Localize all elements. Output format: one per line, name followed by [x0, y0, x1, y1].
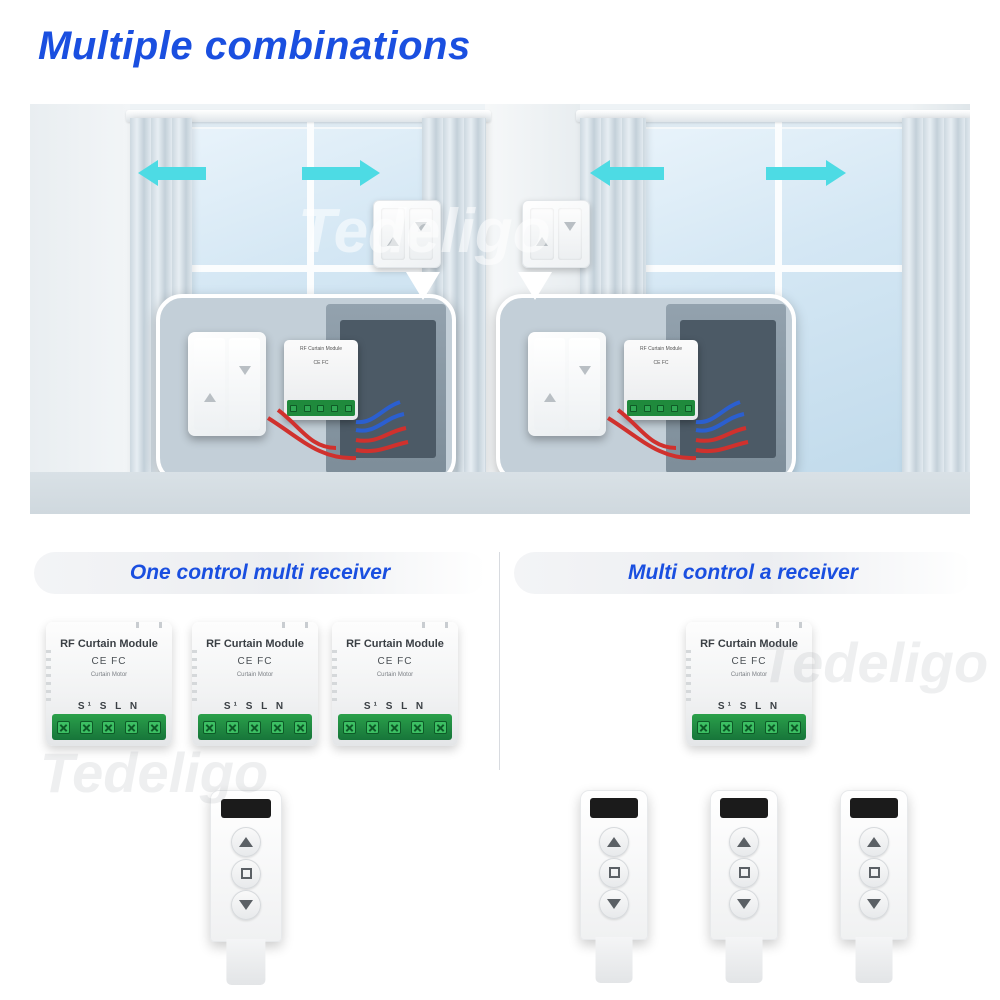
rf-curtain-module: RF Curtain Module CE FC Curtain Motor S¹…	[46, 622, 172, 746]
arrow-right-icon	[766, 160, 846, 186]
rf-remote[interactable]	[210, 790, 282, 942]
switch-button-up[interactable]	[530, 208, 554, 260]
module-terminal-block	[198, 714, 312, 740]
remote-holder	[226, 939, 265, 985]
remote-up-button[interactable]	[859, 827, 889, 857]
rf-curtain-module: RF Curtain Module CE FC Curtain Motor S¹…	[192, 622, 318, 746]
callout-tail	[406, 272, 440, 300]
remote-up-button[interactable]	[231, 827, 261, 857]
module-subtitle: Curtain Motor	[46, 672, 172, 678]
section-heading-label: Multi control a receiver	[628, 561, 858, 585]
callout-right: RF Curtain Module CE FC	[496, 294, 796, 484]
page-title: Multiple combinations	[38, 24, 471, 69]
remote-screen	[590, 798, 638, 817]
module-terminal-labels: S¹ S L N	[332, 701, 458, 712]
remote-stop-button[interactable]	[729, 858, 759, 888]
module-subtitle: Curtain Motor	[332, 672, 458, 678]
remote-screen	[221, 799, 271, 819]
remote-holder	[596, 937, 633, 983]
module-subtitle: Curtain Motor	[686, 672, 812, 678]
switch-button-up[interactable]	[381, 208, 405, 260]
module-certs: CE FC	[686, 656, 812, 667]
rf-curtain-module: RF Curtain Module CE FC Curtain Motor S¹…	[332, 622, 458, 746]
remote-stop-button[interactable]	[859, 858, 889, 888]
module-title: RF Curtain Module	[192, 638, 318, 650]
antenna-icon	[776, 622, 802, 628]
arrow-left-icon	[138, 160, 206, 186]
module-terminal-block	[52, 714, 166, 740]
arrow-right-icon	[302, 160, 380, 186]
module-certs: CE FC	[46, 656, 172, 667]
module-certs: CE FC	[332, 656, 458, 667]
module-terminal-block	[692, 714, 806, 740]
module-title: RF Curtain Module	[332, 638, 458, 650]
remote-stop-button[interactable]	[231, 859, 261, 889]
remote-screen	[720, 798, 768, 817]
room-floor	[30, 472, 970, 514]
remote-down-button[interactable]	[729, 889, 759, 919]
module-terminal-labels: S¹ S L N	[46, 701, 172, 712]
hero-photo: Tedeligo RF Curtain Module CE FC	[30, 104, 970, 514]
wiring-diagram	[160, 298, 456, 484]
antenna-icon	[422, 622, 448, 628]
switch-button-down[interactable]	[409, 208, 433, 260]
remote-holder	[726, 937, 763, 983]
antenna-icon	[136, 622, 162, 628]
remote-holder	[856, 937, 893, 983]
remote-down-button[interactable]	[231, 890, 261, 920]
antenna-icon	[282, 622, 308, 628]
callout-left: RF Curtain Module CE FC	[156, 294, 456, 484]
module-terminal-labels: S¹ S L N	[192, 701, 318, 712]
module-terminal-labels: S¹ S L N	[686, 701, 812, 712]
rf-remote[interactable]	[580, 790, 648, 940]
wiring-diagram	[500, 298, 796, 484]
arrow-left-icon	[590, 160, 664, 186]
module-terminal-block	[338, 714, 452, 740]
remote-down-button[interactable]	[859, 889, 889, 919]
room-wall-left	[30, 104, 130, 514]
curtain-panel	[902, 118, 970, 496]
wall-switch-left[interactable]	[373, 200, 441, 268]
remote-screen	[850, 798, 898, 817]
remote-up-button[interactable]	[599, 827, 629, 857]
switch-button-down[interactable]	[558, 208, 582, 260]
remote-down-button[interactable]	[599, 889, 629, 919]
callout-tail	[518, 272, 552, 300]
module-subtitle: Curtain Motor	[192, 672, 318, 678]
remote-stop-button[interactable]	[599, 858, 629, 888]
rf-curtain-module: RF Curtain Module CE FC Curtain Motor S¹…	[686, 622, 812, 746]
remote-up-button[interactable]	[729, 827, 759, 857]
section-heading-multi-control: Multi control a receiver	[514, 552, 972, 594]
section-heading-one-control: One control multi receiver	[34, 552, 486, 594]
module-title: RF Curtain Module	[46, 638, 172, 650]
section-divider	[499, 552, 500, 770]
wall-switch-right[interactable]	[522, 200, 590, 268]
rf-remote[interactable]	[840, 790, 908, 940]
module-title: RF Curtain Module	[686, 638, 812, 650]
rf-remote[interactable]	[710, 790, 778, 940]
module-certs: CE FC	[192, 656, 318, 667]
section-heading-label: One control multi receiver	[130, 561, 390, 585]
